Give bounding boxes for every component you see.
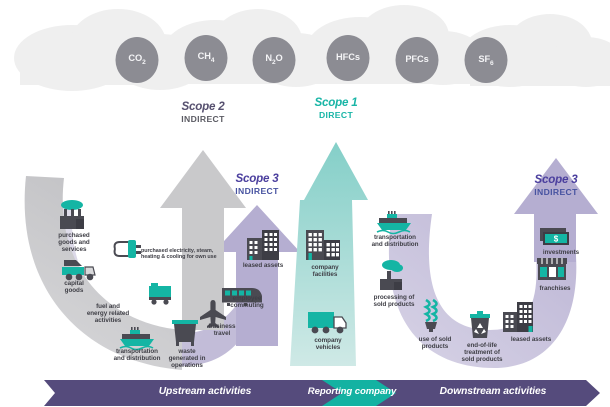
fuel-tanker-icon xyxy=(149,283,171,305)
office-buildings-icon xyxy=(503,302,533,332)
ghg-scopes-diagram: $ CO2 CH4 N2O HFCs PFCs SF6 Scope 2 INDI… xyxy=(0,0,610,407)
recycle-bin-icon xyxy=(470,311,490,338)
gas-bubble-ch4 xyxy=(185,35,228,81)
gas-bubble-sf6 xyxy=(465,37,508,83)
crane-truck-icon xyxy=(62,260,95,280)
diagram-artwork: $ xyxy=(0,0,610,407)
downstream-segment xyxy=(376,380,600,406)
power-plug-icon xyxy=(115,240,141,258)
storefront-icon xyxy=(537,258,567,280)
svg-text:$: $ xyxy=(554,235,559,244)
gas-bubble-co2 xyxy=(116,37,159,83)
gas-bubble-hfcs xyxy=(327,35,370,81)
upstream-segment xyxy=(44,380,344,406)
cloud-band xyxy=(14,5,610,91)
money-stack-icon: $ xyxy=(540,228,569,245)
gas-bubble-pfcs xyxy=(396,37,439,83)
value-chain-bar xyxy=(44,380,600,406)
gas-bubble-n2o xyxy=(253,37,296,83)
